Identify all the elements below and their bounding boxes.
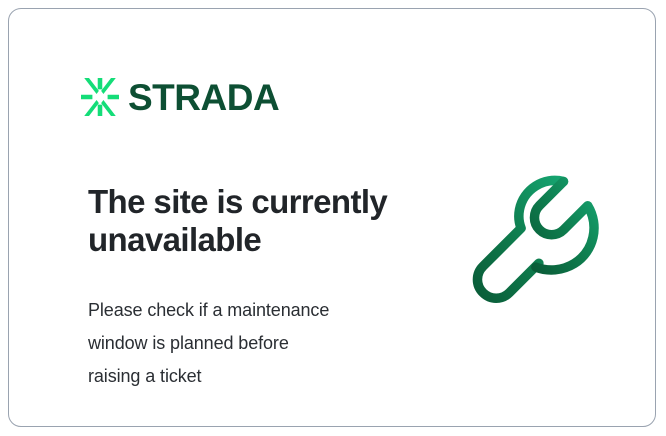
description-line: Please check if a maintenance xyxy=(88,294,418,327)
page-description: Please check if a maintenance window is … xyxy=(88,294,418,393)
strada-starburst-icon xyxy=(81,78,119,116)
brand-logo: STRADA xyxy=(81,72,279,122)
brand-wordmark: STRADA xyxy=(128,79,279,116)
wrench-icon xyxy=(467,172,613,314)
error-page: STRADA The site is currently unavailable… xyxy=(0,0,666,436)
status-card: STRADA The site is currently unavailable… xyxy=(8,8,656,427)
description-line: window is planned before xyxy=(88,327,418,360)
description-line: raising a ticket xyxy=(88,360,418,393)
page-title: The site is currently unavailable xyxy=(88,183,448,259)
